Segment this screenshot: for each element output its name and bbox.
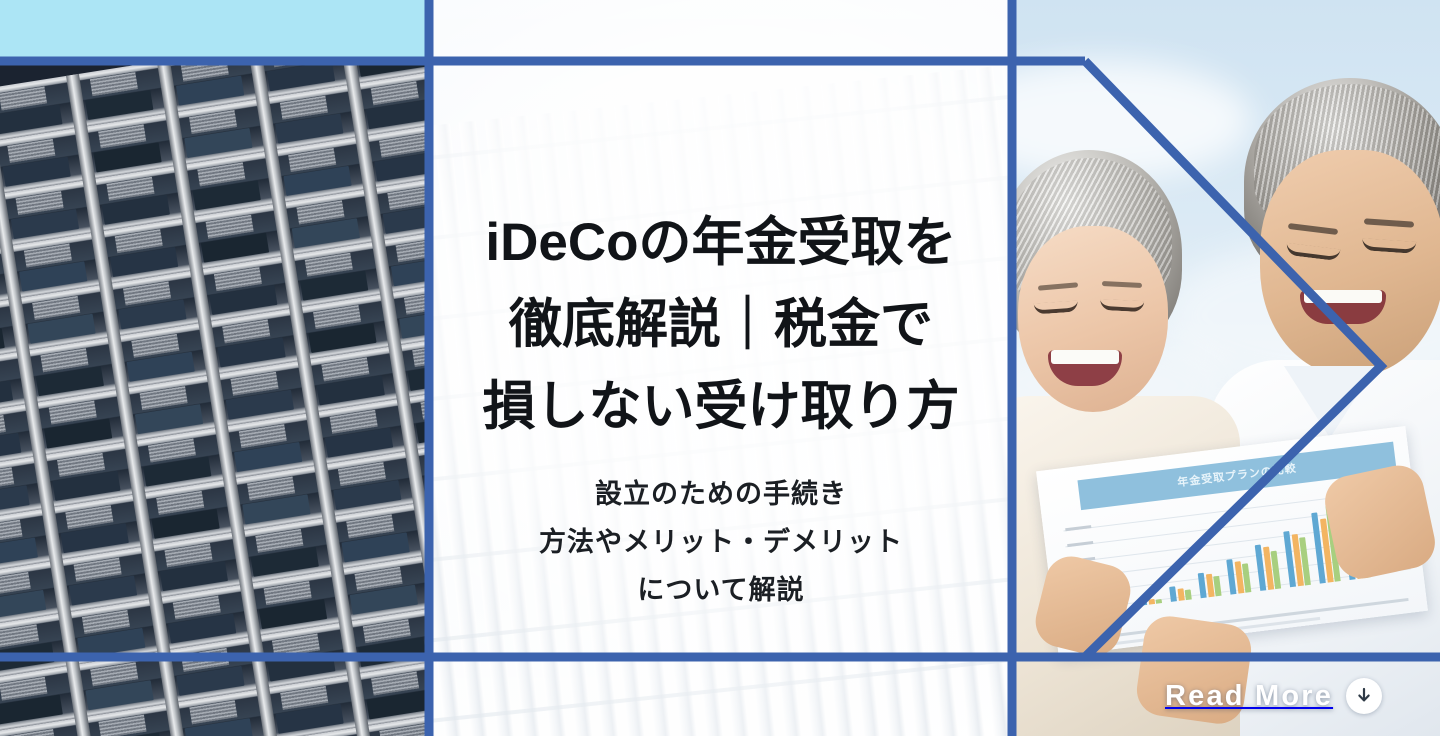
headline-line-3: 損しない受け取り方 xyxy=(430,366,1012,448)
subheading-line-3: について解説 xyxy=(430,566,1012,614)
bar xyxy=(1140,599,1147,606)
bar xyxy=(1185,589,1192,600)
bar xyxy=(1177,588,1184,601)
right-couple-photo: 年金受取プランの比較 xyxy=(1012,0,1440,736)
man-eye xyxy=(1362,238,1417,254)
headline-block: iDeCoの年金受取を 徹底解説｜税金で 損しない受け取り方 xyxy=(430,202,1012,448)
subheading-block: 設立のための手続き 方法やメリット・デメリット について解説 xyxy=(430,470,1012,614)
bar-group xyxy=(1226,557,1251,594)
arrow-down-icon xyxy=(1346,678,1382,714)
bar-group xyxy=(1283,529,1311,587)
dark-building-facade xyxy=(0,0,430,736)
woman-eye xyxy=(1100,299,1145,312)
sky-color-block xyxy=(0,0,430,57)
man-face xyxy=(1260,150,1440,376)
headline-line-1: iDeCoの年金受取を xyxy=(430,202,1012,284)
bar-group xyxy=(1140,597,1162,606)
man-eye xyxy=(1285,243,1340,261)
bar-group xyxy=(1255,543,1281,591)
man-eyebrow xyxy=(1288,223,1338,235)
bar xyxy=(1148,599,1155,605)
man-mouth xyxy=(1300,290,1386,324)
headline-line-2: 徹底解説｜税金で xyxy=(430,284,1012,366)
bar-group xyxy=(1169,584,1192,601)
man-collar xyxy=(1284,366,1376,438)
woman-eye xyxy=(1034,300,1079,314)
bar xyxy=(1156,599,1162,604)
subheading-line-2: 方法やメリット・デメリット xyxy=(430,518,1012,566)
woman-eyebrow xyxy=(1102,281,1142,288)
woman-eyebrow xyxy=(1038,282,1078,290)
man-eyebrow xyxy=(1364,218,1414,227)
left-building-image xyxy=(0,0,430,736)
read-more-button[interactable]: Read More xyxy=(1165,678,1382,714)
bar xyxy=(1169,586,1177,602)
subheading-line-1: 設立のための手続き xyxy=(430,470,1012,518)
banner-stage: 年金受取プランの比較 xyxy=(0,0,1440,736)
bar-group xyxy=(1198,571,1222,598)
bar xyxy=(1213,576,1221,597)
read-more-label: Read More xyxy=(1165,680,1333,713)
